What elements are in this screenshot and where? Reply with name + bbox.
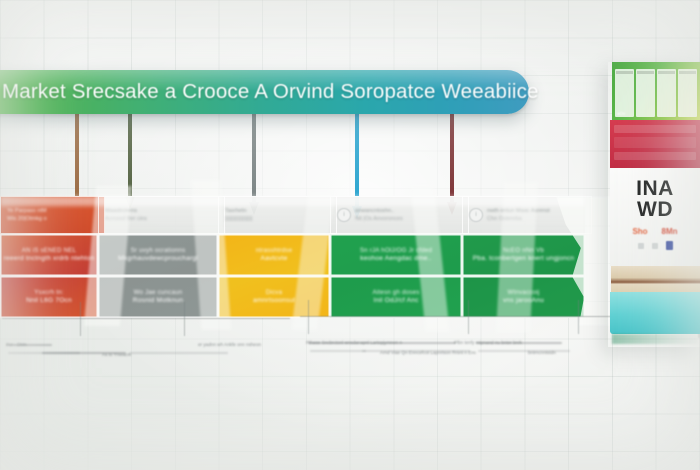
matrix-header-cell-4[interactable]: ianwancntoshn..Nit |Os Anvoronces	[330, 196, 469, 234]
matrix-cell-line-1: AN iS sENED NEL	[22, 247, 77, 255]
matrix-header-text: MaastrcnensAcrossd Ber cins	[105, 208, 147, 222]
matrix-header-line-1: Ye Parpaso ntM	[7, 208, 47, 214]
panel-teal-band	[610, 292, 700, 334]
matrix-cell-line-1: Sr uvyh ocrationns	[131, 247, 186, 255]
matrix-cell[interactable]: Dicvaamnrtsoonsul	[218, 276, 330, 318]
column-strategy: AN iS sENED NELreeerd tnctngth xrdrb nte…	[0, 234, 98, 318]
matrix-cell-line-1: Wo Jae cuncaun	[134, 289, 183, 297]
connector-5	[450, 112, 454, 204]
panel-red-block	[610, 120, 700, 168]
banner-title: Market Srecsake a Crooce A Orvind Soropa…	[0, 80, 539, 104]
matrix-cell[interactable]: Wtnvaccoijvns jarooAnu	[462, 276, 585, 318]
panel-square-icon-1	[638, 243, 644, 249]
right-floating-panel: aOv INA WD Sho 8Mn	[608, 62, 700, 347]
panel-sub-right: 8Mn	[662, 227, 678, 236]
annotation-bracket	[300, 316, 612, 317]
matrix-cell-line-2: Aavtcvte	[261, 255, 288, 263]
annotation-caption: Pthase Sncbrctonl wnsdanapnl Lartopjymne…	[306, 340, 402, 345]
matrix-cell-line-2: Nnil L6G 7Ocn	[26, 297, 72, 305]
annotation-tick	[578, 300, 579, 334]
panel-square-icon-2	[652, 243, 658, 249]
connector-shaft	[355, 112, 359, 208]
annotation-caption: bntrncnntstdn	[528, 350, 556, 355]
panel-green-header: aOv	[612, 62, 700, 120]
panel-thumb-1	[615, 69, 634, 117]
annotation-text-line	[130, 352, 228, 354]
matrix-header-line-1: Tasrhetn	[225, 208, 253, 214]
annotation-right: Pthase Sncbrctonl wnsdanapnl Lartopjymne…	[300, 316, 612, 350]
panel-headline: INA WD	[616, 178, 694, 220]
matrix-cell[interactable]: ntrasshtrdseAavtcvte	[218, 234, 330, 276]
panel-footer-band	[612, 334, 698, 344]
annotation-tick	[308, 300, 309, 334]
connector-3	[252, 112, 256, 204]
matrix-cell[interactable]: NcEO nNn VbPba. tconbertgen knert ungjon…	[462, 234, 585, 276]
annotation-caption: Plbn tenfy mtpnand nu bnter bnrk	[454, 340, 522, 345]
matrix-cell-line-1: Aitesn gh doses	[372, 289, 419, 297]
matrix-cell[interactable]: Sr uvyh ocrationnsMkgrhauvdewcprouchargl	[98, 234, 218, 276]
title-banner: Market Srecsake a Crooce A Orvind Soropa…	[0, 70, 529, 114]
strategy-matrix: Ye Parpaso ntMWis 20|Otmkg oMaastrcnensA…	[0, 196, 585, 318]
matrix-header-line-1: anwancntoshn..	[355, 208, 403, 214]
connector-shaft	[252, 112, 256, 204]
matrix-header-line-1: Maastrcnens	[105, 208, 147, 214]
connector-shaft	[128, 112, 132, 198]
panel-thumb-2	[636, 69, 655, 117]
column-scale: NcEO nNn VbPba. tconbertgen knert ungjon…	[462, 234, 585, 318]
matrix-header-text: nwth ontun Maac AsrenstChn Ostenrba	[487, 208, 550, 222]
column-delivery: Sn rJA hOlJ/OG Jr cfdedkeohoe Aengdac dm…	[330, 234, 462, 318]
connector-2	[128, 112, 132, 198]
panel-book-icon	[666, 241, 673, 250]
info-badge-icon: i	[337, 208, 351, 222]
panel-red-line-2	[614, 137, 696, 148]
annotation-tick	[80, 302, 81, 336]
matrix-cell[interactable]: Sn rJA hOlJ/OG Jr cfdedkeohoe Aengdac dm…	[330, 234, 462, 276]
matrix-cell-line-1: Wtnvaccoij	[508, 289, 540, 297]
matrix-cell-line-2: vns jarooAnu	[503, 297, 544, 305]
matrix-cell[interactable]: AN iS sENED NELreeerd tnctngth xrdrb nte…	[0, 234, 98, 276]
matrix-header-cell-1[interactable]: Ye Parpaso ntMWis 20|Otmkg o	[0, 196, 105, 234]
matrix-header-text: Tasrhetn|||||||||||||||||||	[225, 208, 253, 222]
matrix-cell-line-2: Mkgrhauvdewcprouchargl	[118, 255, 198, 263]
matrix-header-cell-3[interactable]: Tasrhetn|||||||||||||||||||	[218, 196, 337, 234]
matrix-header-line-2: Acrossd Ber cins	[105, 216, 147, 222]
matrix-cell-line-2: Pba. tconbertgen knert ungjoncn	[473, 255, 575, 263]
annotation-tick	[184, 302, 185, 336]
panel-headline-block: INA WD Sho 8Mn	[610, 168, 700, 266]
annotation-bracket	[2, 318, 290, 319]
annotation-text-line	[478, 350, 570, 352]
matrix-cell-line-1: Sn rJA hOlJ/OG Jr cfded	[360, 247, 432, 255]
annotation-tick	[468, 300, 469, 334]
panel-tagline: aOv	[617, 111, 625, 116]
matrix-cell-line-1: Dicva	[266, 289, 282, 297]
panel-tan-band	[611, 266, 700, 292]
panel-red-line-3	[614, 152, 696, 160]
matrix-cell[interactable]: Wo Jae cuncaunRosnid Motknun	[98, 276, 218, 318]
matrix-header-line-1: nwth ontun Maac Asrenst	[487, 208, 550, 214]
panel-red-line-1	[614, 125, 696, 133]
panel-thumb-4	[678, 69, 697, 117]
matrix-cell[interactable]: Aitesn gh dosesInil OdJ/cf Anc	[330, 276, 462, 318]
matrix-header-cell-2[interactable]: MaastrcnensAcrossd Ber cins	[98, 196, 225, 234]
connector-1	[75, 112, 79, 198]
matrix-header-cell-5[interactable]: inwth ontun Maac AsrenstChn Ostenrba	[462, 196, 592, 234]
annotation-left: Pcr - DMnAs to Ynwacrker yadnn wh Ankfe …	[2, 318, 290, 352]
matrix-cell-line-2: amnrtsoonsul	[253, 297, 295, 305]
matrix-cell-line-2: keohoe Aengdac dme..	[360, 255, 431, 263]
matrix-cell-line-2: Inil OdJ/cf Anc	[373, 297, 418, 305]
panel-sub-left: Sho	[632, 227, 647, 236]
matrix-header-line-2: Wis 20|Otmkg o	[7, 216, 47, 222]
info-badge-icon: i	[469, 208, 483, 222]
matrix-header-line-2: Chn Ostenrba	[487, 216, 550, 222]
matrix-cell[interactable]: Ysxcrh tn:Nnil L6G 7Ocn	[0, 276, 98, 318]
column-operations: Sr uvyh ocrationnsMkgrhauvdewcprouchargl…	[98, 234, 218, 318]
matrix-cell-line-1: Ysxcrh tn:	[34, 289, 64, 297]
annotation-text-line	[310, 350, 366, 352]
annotation-caption: Pcr - DMn	[6, 342, 27, 347]
connector-shaft	[450, 112, 454, 204]
connector-shaft	[75, 112, 79, 198]
matrix-header-line-2: |||||||||||||||||||	[225, 216, 253, 222]
matrix-header-text: Ye Parpaso ntMWis 20|Otmkg o	[7, 208, 47, 222]
panel-icon-row	[616, 241, 694, 250]
annotation-caption: As to Ynwacrk	[102, 352, 131, 357]
infographic-canvas: Market Srecsake a Crooce A Orvind Soropa…	[0, 0, 700, 470]
annotation-caption: Arnd Viae Qn Enncefcot Lapnrtson Rrsnt n…	[380, 350, 476, 355]
column-growth: ntrasshtrdseAavtcvteDicvaamnrtsoonsul	[218, 234, 330, 318]
panel-subvalues: Sho 8Mn	[616, 227, 694, 236]
matrix-header-text: anwancntoshn..Nit |Os Anvoronces	[355, 208, 403, 222]
matrix-cell-line-1: NcEO nNn Vb	[503, 247, 544, 255]
connector-4	[355, 112, 359, 208]
annotation-caption: er yadnn wh Ankfe onn nsheon	[198, 342, 261, 347]
matrix-cell-line-2: Rosnid Motknun	[133, 297, 183, 305]
panel-thumb-3	[657, 69, 676, 117]
matrix-cell-line-2: reeerd tnctngth xrdrb ntehton	[4, 255, 95, 263]
matrix-header-line-2: Nit |Os Anvoronces	[355, 216, 403, 222]
matrix-cell-line-1: ntrasshtrdse	[256, 247, 292, 255]
